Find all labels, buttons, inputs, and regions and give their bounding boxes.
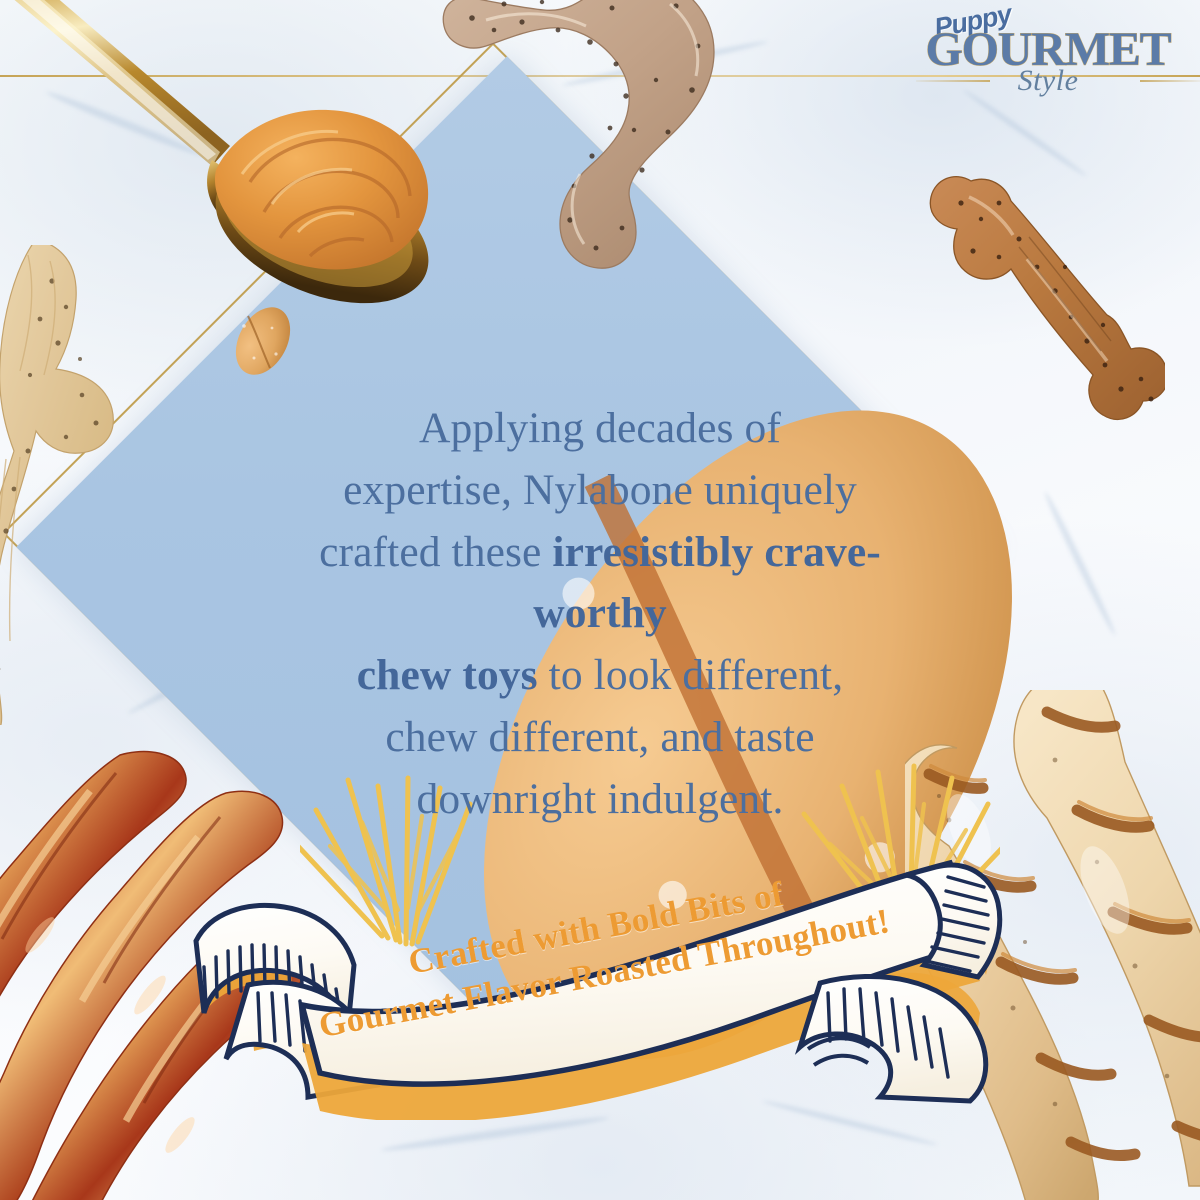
copy-emphasis-1: irresistibly crave-worthy	[533, 528, 881, 638]
logo-word-style: Style	[918, 64, 1178, 98]
ribbon-banner	[180, 845, 1010, 1120]
copy-line-6: downright indulgent.	[255, 769, 945, 831]
main-copy: Applying decades of expertise, Nylabone …	[255, 398, 945, 830]
copy-line-2: expertise, Nylabone uniquely	[255, 460, 945, 522]
copy-line-3-text: crafted these	[319, 528, 552, 576]
copy-line-5: chew different, and taste	[255, 707, 945, 769]
peanut	[218, 302, 308, 380]
copy-line-3: crafted these irresistibly crave-worthy	[255, 522, 945, 646]
gold-spoon-with-peanut-butter	[0, 0, 500, 330]
brand-logo: Puppy GOURMET Style	[918, 4, 1178, 96]
copy-line-1: Applying decades of	[255, 398, 945, 460]
copy-line-4: chew toys to look different,	[255, 645, 945, 707]
copy-emphasis-2: chew toys	[357, 651, 538, 699]
promo-image: Crafted with Bold Bits of Gourmet Flavor…	[0, 0, 1200, 1200]
copy-line-4-text: to look different,	[538, 651, 844, 699]
